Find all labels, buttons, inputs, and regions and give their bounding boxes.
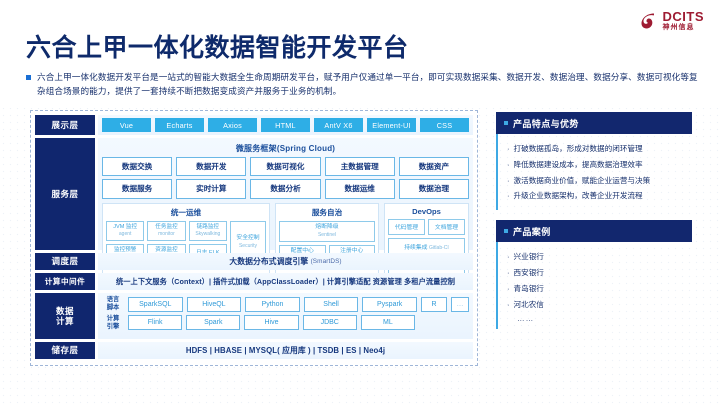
schedule-text-en: (SmartDS): [311, 258, 342, 265]
engine-cells: Flink Spark Hive JDBC ML: [128, 315, 469, 330]
page-subtitle: 六合上甲一体化数据开发平台是一站式的智能大数据全生命周期研发平台，赋予用户仅通过…: [26, 70, 698, 98]
layer-label-compute-line2: 计算: [56, 316, 74, 327]
dot-bullet-icon: ·: [507, 283, 510, 294]
presentation-body: Vue Echarts Axios HTML AntV X6 Element-U…: [98, 115, 473, 135]
storage-text: HDFS | HBASE | MYSQL( 应用库 ) | TSDB | ES …: [98, 342, 473, 359]
service-function-cell[interactable]: 数据开发: [176, 157, 246, 176]
engine-label-line1: 计算: [102, 315, 124, 323]
layer-label-presentation: 展示层: [35, 115, 95, 135]
engine-row-spacer: [419, 315, 469, 330]
layer-storage: 储存层 HDFS | HBASE | MYSQL( 应用库 ) | TSDB |…: [35, 342, 473, 359]
devops-row: 持续集成 Gitlab-CI: [388, 238, 465, 255]
schedule-text-cn: 大数据分布式调度引擎: [229, 256, 308, 267]
layer-label-compute-line1: 数据: [56, 306, 74, 317]
list-item-label: 激活数据商业价值，赋能企业运营与决策: [514, 175, 651, 186]
tech-tag[interactable]: Vue: [102, 118, 151, 132]
service-function-cell[interactable]: 实时计算: [176, 179, 246, 198]
script-row: 语言 脚本 SparkSQL HiveQL Python Shell Pyspa…: [102, 296, 469, 312]
script-cell[interactable]: Python: [245, 297, 300, 312]
layer-schedule: 调度层 大数据分布式调度引擎 (SmartDS): [35, 253, 473, 270]
script-row-label: 语言 脚本: [102, 296, 124, 312]
engine-cell[interactable]: ML: [361, 315, 415, 330]
engine-cell[interactable]: Flink: [128, 315, 182, 330]
square-bullet-icon: [26, 75, 31, 80]
service-governance-row: 熔断降级 Sentinel: [279, 221, 375, 242]
script-label-line1: 语言: [102, 296, 124, 304]
devops-title: DevOps: [388, 206, 465, 219]
ops-cell-en: Skywalking: [191, 231, 225, 237]
brand-name-cn: 神州信息: [663, 24, 705, 31]
ops-cell-cn: 链路监控: [191, 224, 225, 231]
governance-cell-en: Sentinel: [281, 232, 373, 239]
service-function-grid: 数据交换 数据开发 数据可视化 主数据管理 数据资产 数据服务 实时计算 数据分…: [102, 157, 469, 199]
layer-middleware: 计算中间件 统一上下文服务（Context）| 插件式加载（AppClassLo…: [35, 273, 473, 290]
engine-label-line2: 引擎: [102, 323, 124, 331]
layer-label-schedule: 调度层: [35, 253, 95, 270]
brand-logo: DCITS 神州信息: [639, 10, 705, 31]
service-function-cell[interactable]: 主数据管理: [325, 157, 395, 176]
governance-cell-cn: 熔断降级: [281, 224, 373, 232]
service-function-cell[interactable]: 数据交换: [102, 157, 172, 176]
middleware-body: 统一上下文服务（Context）| 插件式加载（AppClassLoader）|…: [98, 273, 473, 290]
layer-label-storage: 储存层: [35, 342, 95, 359]
security-control-en: Security: [239, 243, 257, 250]
card-cases-body: · 兴业银行 · 西安银行 · 青岛银行 · 河北农信 ……: [496, 242, 692, 329]
list-item: · 青岛银行: [507, 281, 684, 297]
data-compute-body: 语言 脚本 SparkSQL HiveQL Python Shell Pyspa…: [98, 293, 473, 339]
script-label-line2: 脚本: [102, 304, 124, 312]
devops-cell-cn: 持续集成: [404, 245, 427, 251]
engine-row-label: 计算 引擎: [102, 315, 124, 331]
tech-tag[interactable]: CSS: [420, 118, 469, 132]
card-advantages-body: · 打破数据孤岛，形成对数据的闭环管理 · 降低数据建设成本，提高数据治理效率 …: [496, 134, 692, 210]
tech-tag[interactable]: Axios: [208, 118, 257, 132]
list-item-more: ……: [507, 312, 684, 323]
script-cells: SparkSQL HiveQL Python Shell Pyspark R …: [128, 297, 469, 312]
service-function-row: 数据服务 实时计算 数据分析 数据运维 数据治理: [102, 179, 469, 198]
ops-cell[interactable]: JVM 监控 agent: [106, 221, 144, 241]
service-function-cell[interactable]: 数据运维: [325, 179, 395, 198]
card-advantages-title: 产品特点与优势: [513, 117, 579, 130]
dot-bullet-icon: ·: [507, 267, 510, 278]
list-item: · 降低数据建设成本，提高数据治理效率: [507, 157, 684, 173]
dot-bullet-icon: ·: [507, 175, 510, 186]
script-cell[interactable]: SparkSQL: [128, 297, 183, 312]
list-item-label: 兴业银行: [514, 251, 544, 262]
devops-cell-en: Gitlab-CI: [429, 245, 449, 251]
service-function-cell[interactable]: 数据治理: [399, 179, 469, 198]
engine-cell[interactable]: Spark: [186, 315, 240, 330]
page-subtitle-text: 六合上甲一体化数据开发平台是一站式的智能大数据全生命周期研发平台，赋予用户仅通过…: [37, 70, 698, 98]
card-advantages: 产品特点与优势 · 打破数据孤岛，形成对数据的闭环管理 · 降低数据建设成本，提…: [496, 112, 692, 210]
script-cell[interactable]: HiveQL: [187, 297, 242, 312]
dot-bullet-icon: ·: [507, 190, 510, 201]
page-title: 六合上甲一体化数据智能开发平台: [26, 28, 409, 64]
tech-tag[interactable]: Element-UI: [367, 118, 416, 132]
list-item: · 激活数据商业价值，赋能企业运营与决策: [507, 173, 684, 189]
script-cell[interactable]: Shell: [304, 297, 359, 312]
script-cell[interactable]: Pyspark: [362, 297, 417, 312]
card-cases: 产品案例 · 兴业银行 · 西安银行 · 青岛银行 · 河北农信 ……: [496, 220, 692, 329]
devops-cell-ci[interactable]: 持续集成 Gitlab-CI: [388, 238, 465, 255]
ops-cell-cn: JVM 监控: [108, 224, 142, 231]
card-cases-header: 产品案例: [496, 220, 692, 242]
presentation-tag-row: Vue Echarts Axios HTML AntV X6 Element-U…: [102, 118, 469, 132]
layer-data-compute: 数据 计算 语言 脚本 SparkSQL HiveQL Python Shell…: [35, 293, 473, 339]
list-item-label: 青岛银行: [514, 283, 544, 294]
layer-service: 服务层 微服务框架(Spring Cloud) 数据交换 数据开发 数据可视化 …: [35, 138, 473, 250]
script-cell[interactable]: R: [421, 297, 447, 312]
schedule-body: 大数据分布式调度引擎 (SmartDS): [98, 253, 473, 270]
layer-label-middleware: 计算中间件: [35, 273, 95, 290]
square-bullet-icon: [504, 229, 508, 233]
ops-cell-en: agent: [108, 231, 142, 237]
dcits-swirl-icon: [639, 11, 659, 31]
engine-cell[interactable]: JDBC: [303, 315, 357, 330]
list-item-label: 河北农信: [514, 299, 544, 310]
service-governance-title: 服务自治: [279, 206, 375, 221]
list-item: · 西安银行: [507, 265, 684, 281]
ops-cell[interactable]: 链路监控 Skywalking: [189, 221, 227, 241]
service-function-cell[interactable]: 数据资产: [399, 157, 469, 176]
storage-body: HDFS | HBASE | MYSQL( 应用库 ) | TSDB | ES …: [98, 342, 473, 359]
engine-cell[interactable]: Hive: [244, 315, 298, 330]
square-bullet-icon: [504, 121, 508, 125]
tech-tag[interactable]: Echarts: [155, 118, 204, 132]
layer-label-data-compute: 数据 计算: [35, 293, 95, 339]
engine-row: 计算 引擎 Flink Spark Hive JDBC ML: [102, 315, 469, 331]
tech-tag[interactable]: HTML: [261, 118, 310, 132]
service-function-cell[interactable]: 数据服务: [102, 179, 172, 198]
service-function-cell[interactable]: 数据分析: [250, 179, 320, 198]
list-item: · 兴业银行: [507, 249, 684, 265]
architecture-diagram: 展示层 Vue Echarts Axios HTML AntV X6 Eleme…: [30, 110, 478, 366]
schedule-content: 大数据分布式调度引擎 (SmartDS): [98, 253, 473, 270]
devops-cell[interactable]: 代码管理: [388, 219, 425, 236]
dot-bullet-icon: ·: [507, 143, 510, 154]
list-item: · 升级企业数据架构，改善企业开发流程: [507, 188, 684, 204]
list-item-label: 打破数据孤岛，形成对数据的闭环管理: [514, 143, 643, 154]
dot-bullet-icon: ·: [507, 159, 510, 170]
list-item-label: 西安银行: [514, 267, 544, 278]
service-body: 微服务框架(Spring Cloud) 数据交换 数据开发 数据可视化 主数据管…: [98, 138, 473, 250]
tech-tag[interactable]: AntV X6: [314, 118, 363, 132]
service-function-cell[interactable]: 数据可视化: [250, 157, 320, 176]
list-item: · 河北农信: [507, 296, 684, 312]
brand-name-en: DCITS: [663, 10, 705, 23]
governance-cell[interactable]: 熔断降级 Sentinel: [279, 221, 375, 242]
unified-ops-row: JVM 监控 agent 任务监控 monitor 链路监控 Skywalkin…: [106, 221, 227, 241]
service-function-row: 数据交换 数据开发 数据可视化 主数据管理 数据资产: [102, 157, 469, 176]
devops-cell[interactable]: 文档管理: [428, 219, 465, 236]
microservice-framework-title: 微服务框架(Spring Cloud): [102, 140, 469, 157]
dot-bullet-icon: ·: [507, 251, 510, 262]
security-control-cn: 安全控制: [236, 235, 259, 243]
middleware-text: 统一上下文服务（Context）| 插件式加载（AppClassLoader）|…: [98, 273, 473, 290]
ops-cell-en: monitor: [149, 231, 183, 237]
ops-cell[interactable]: 任务监控 monitor: [147, 221, 185, 241]
list-item-label: 升级企业数据架构，改善企业开发流程: [514, 190, 643, 201]
card-cases-title: 产品案例: [513, 225, 551, 238]
layer-label-service: 服务层: [35, 138, 95, 250]
sidebar: 产品特点与优势 · 打破数据孤岛，形成对数据的闭环管理 · 降低数据建设成本，提…: [496, 112, 692, 339]
script-cell-more[interactable]: …: [451, 297, 469, 312]
unified-ops-title: 统一运维: [106, 206, 266, 221]
card-advantages-header: 产品特点与优势: [496, 112, 692, 134]
ops-cell-cn: 任务监控: [149, 224, 183, 231]
devops-row: 代码管理 文档管理: [388, 219, 465, 236]
list-item-label: 降低数据建设成本，提高数据治理效率: [514, 159, 643, 170]
layer-presentation: 展示层 Vue Echarts Axios HTML AntV X6 Eleme…: [35, 115, 473, 135]
dot-bullet-icon: ·: [507, 299, 510, 310]
list-item: · 打破数据孤岛，形成对数据的闭环管理: [507, 141, 684, 157]
